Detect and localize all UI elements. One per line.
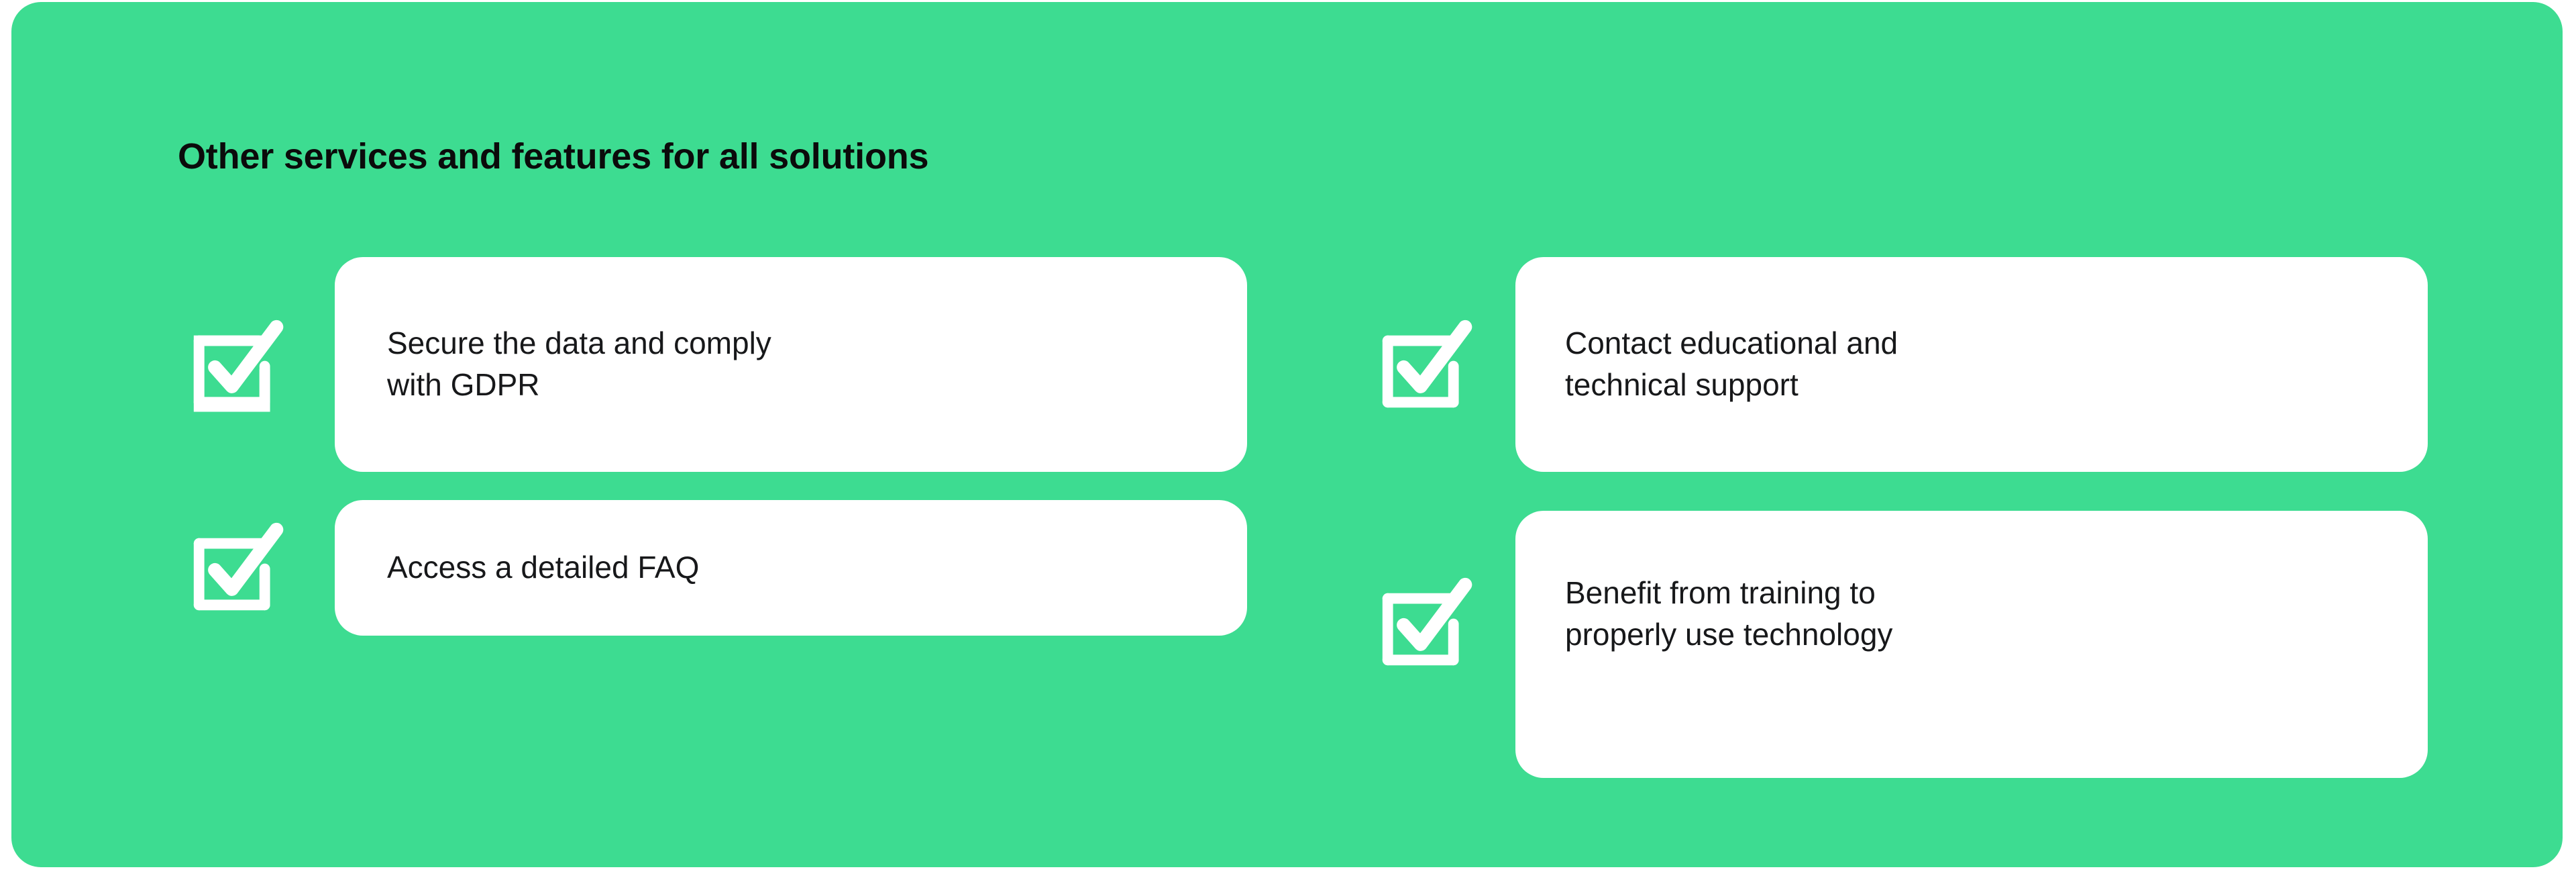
feature-card[interactable]: Secure the data and comply with GDPR	[335, 257, 1247, 472]
checkbox-checked-icon	[1372, 511, 1478, 676]
other-services-panel: Other services and features for all solu…	[11, 2, 2563, 867]
checkbox-checked-icon	[183, 500, 289, 621]
feature-card[interactable]: Benefit from training to properly use te…	[1515, 511, 2428, 778]
feature-card[interactable]: Contact educational and technical suppor…	[1515, 257, 2428, 472]
feature-label: Secure the data and comply with GDPR	[335, 323, 771, 405]
feature-item: Contact educational and technical suppor…	[1372, 257, 2428, 472]
checkbox-checked-icon	[183, 257, 289, 418]
feature-item: Secure the data and comply with GDPR	[183, 257, 1247, 472]
page-title: Other services and features for all solu…	[178, 134, 928, 180]
feature-item: Access a detailed FAQ	[183, 500, 1247, 636]
checkbox-checked-icon	[1372, 257, 1478, 418]
feature-label: Contact educational and technical suppor…	[1515, 323, 1898, 405]
feature-item: Benefit from training to properly use te…	[1372, 511, 2428, 778]
feature-label: Access a detailed FAQ	[335, 547, 699, 589]
screenshot-root: Other services and features for all solu…	[0, 0, 2576, 886]
feature-label: Benefit from training to properly use te…	[1515, 573, 1892, 655]
feature-card[interactable]: Access a detailed FAQ	[335, 500, 1247, 636]
